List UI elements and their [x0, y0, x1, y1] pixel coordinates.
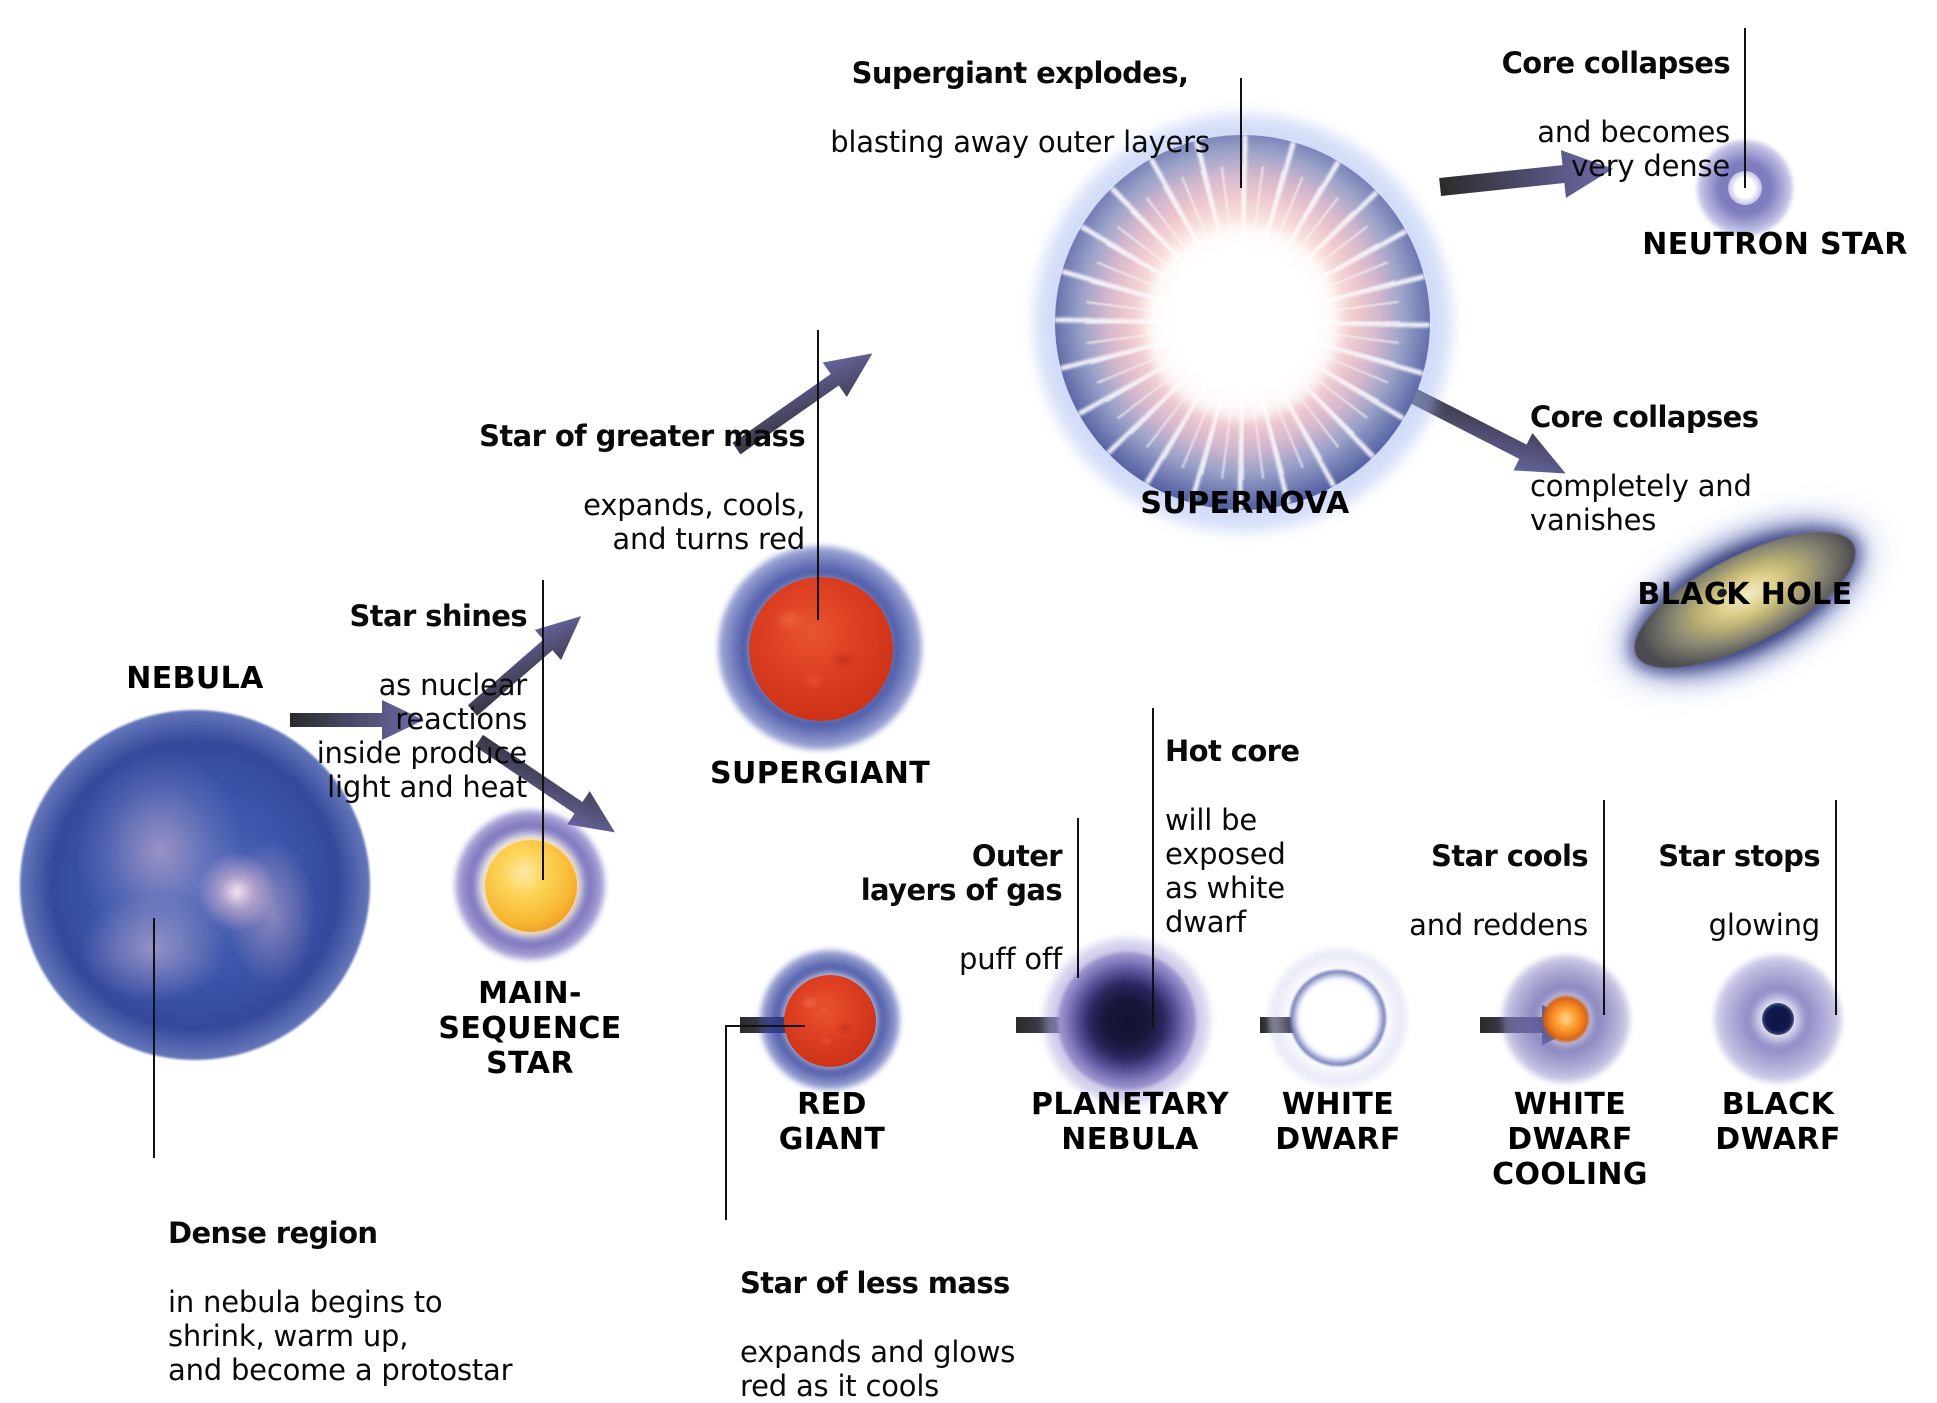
callout-star-stops-body: glowing — [1709, 908, 1820, 942]
label-neutron-star: NEUTRON STAR — [1625, 228, 1925, 263]
callout-core-collapses-dense: Core collapses and becomes very dense — [1440, 12, 1730, 183]
callout-star-stops-headline: Star stops — [1658, 839, 1820, 873]
label-supernova: SUPERNOVA — [1110, 487, 1380, 522]
object-black-dwarf — [1762, 1003, 1794, 1035]
leader-line-core-collapses-dense — [1744, 28, 1746, 188]
object-supernova — [1055, 135, 1430, 510]
object-supergiant — [749, 577, 893, 721]
callout-star-of-less-mass-headline: Star of less mass — [740, 1266, 1010, 1300]
callout-star-of-greater-mass-headline: Star of greater mass — [479, 419, 805, 453]
callout-star-of-less-mass-body: expands and glows red as it cools — [740, 1335, 1015, 1403]
callout-supergiant-explodes-headline: Supergiant explodes, — [852, 56, 1189, 90]
callout-star-stops: Star stops glowing — [1600, 805, 1820, 942]
leader-line-star-of-less-mass-horizontal — [725, 1025, 805, 1027]
callout-outer-layers-of-gas: Outer layers of gas puff off — [800, 805, 1062, 976]
label-red-giant: RED GIANT — [712, 1088, 952, 1158]
leader-line-outer-layers-of-gas — [1077, 818, 1079, 978]
callout-core-collapses-vanishes-headline: Core collapses — [1530, 400, 1758, 434]
callout-supergiant-explodes: Supergiant explodes, blasting away outer… — [800, 22, 1240, 159]
callout-supergiant-explodes-body: blasting away outer layers — [830, 125, 1210, 159]
callout-outer-layers-of-gas-body: puff off — [959, 942, 1062, 976]
label-main-sequence-star: MAIN- SEQUENCE STAR — [380, 977, 680, 1081]
label-white-dwarf: WHITE DWARF — [1218, 1088, 1458, 1158]
callout-dense-region: Dense region in nebula begins to shrink,… — [168, 1182, 588, 1387]
label-nebula: NEBULA — [75, 662, 315, 697]
callout-core-collapses-vanishes-body: completely and vanishes — [1530, 469, 1752, 537]
callout-dense-region-headline: Dense region — [168, 1216, 377, 1250]
callout-hot-core-headline: Hot core — [1165, 734, 1299, 768]
object-white-dwarf — [1290, 970, 1386, 1066]
callout-hot-core-body: will be exposed as white dwarf — [1165, 803, 1286, 940]
callout-core-collapses-dense-body: and becomes very dense — [1537, 115, 1730, 183]
callout-star-cools: Star cools and reddens — [1318, 805, 1588, 942]
label-black-dwarf: BLACK DWARF — [1678, 1088, 1878, 1158]
leader-line-star-shines — [542, 580, 544, 880]
object-red-giant — [784, 975, 876, 1067]
callout-star-cools-body: and reddens — [1409, 908, 1588, 942]
object-main-sequence-star — [485, 840, 577, 932]
callout-outer-layers-of-gas-headline: Outer layers of gas — [861, 839, 1062, 907]
callout-star-shines-body: as nuclear reactions inside produce ligh… — [317, 668, 527, 805]
label-black-hole: BLACK HOLE — [1600, 578, 1890, 613]
leader-line-star-stops — [1835, 800, 1837, 1015]
callout-core-collapses-dense-headline: Core collapses — [1502, 46, 1730, 80]
label-white-dwarf-cooling: WHITE DWARF COOLING — [1450, 1088, 1690, 1192]
callout-star-of-less-mass: Star of less mass expands and glows red … — [740, 1232, 1140, 1403]
stellar-evolution-diagram: Supergiant explodes, blasting away outer… — [0, 0, 1937, 1350]
leader-line-hot-core — [1152, 708, 1154, 1028]
supernova-core — [1145, 225, 1340, 420]
leader-line-supergiant-explodes — [1240, 78, 1242, 188]
callout-star-of-greater-mass: Star of greater mass expands, cools, and… — [420, 385, 805, 556]
callout-star-cools-headline: Star cools — [1431, 839, 1588, 873]
leader-line-star-of-greater-mass — [817, 330, 819, 620]
object-white-dwarf-cooling — [1543, 996, 1589, 1042]
callout-star-shines-headline: Star shines — [349, 599, 527, 633]
callout-dense-region-body: in nebula begins to shrink, warm up, and… — [168, 1285, 512, 1387]
callout-star-of-greater-mass-body: expands, cools, and turns red — [583, 488, 805, 556]
label-supergiant: SUPERGIANT — [690, 757, 950, 792]
callout-core-collapses-vanishes: Core collapses completely and vanishes — [1530, 366, 1850, 537]
leader-line-dense-region — [153, 918, 155, 1158]
